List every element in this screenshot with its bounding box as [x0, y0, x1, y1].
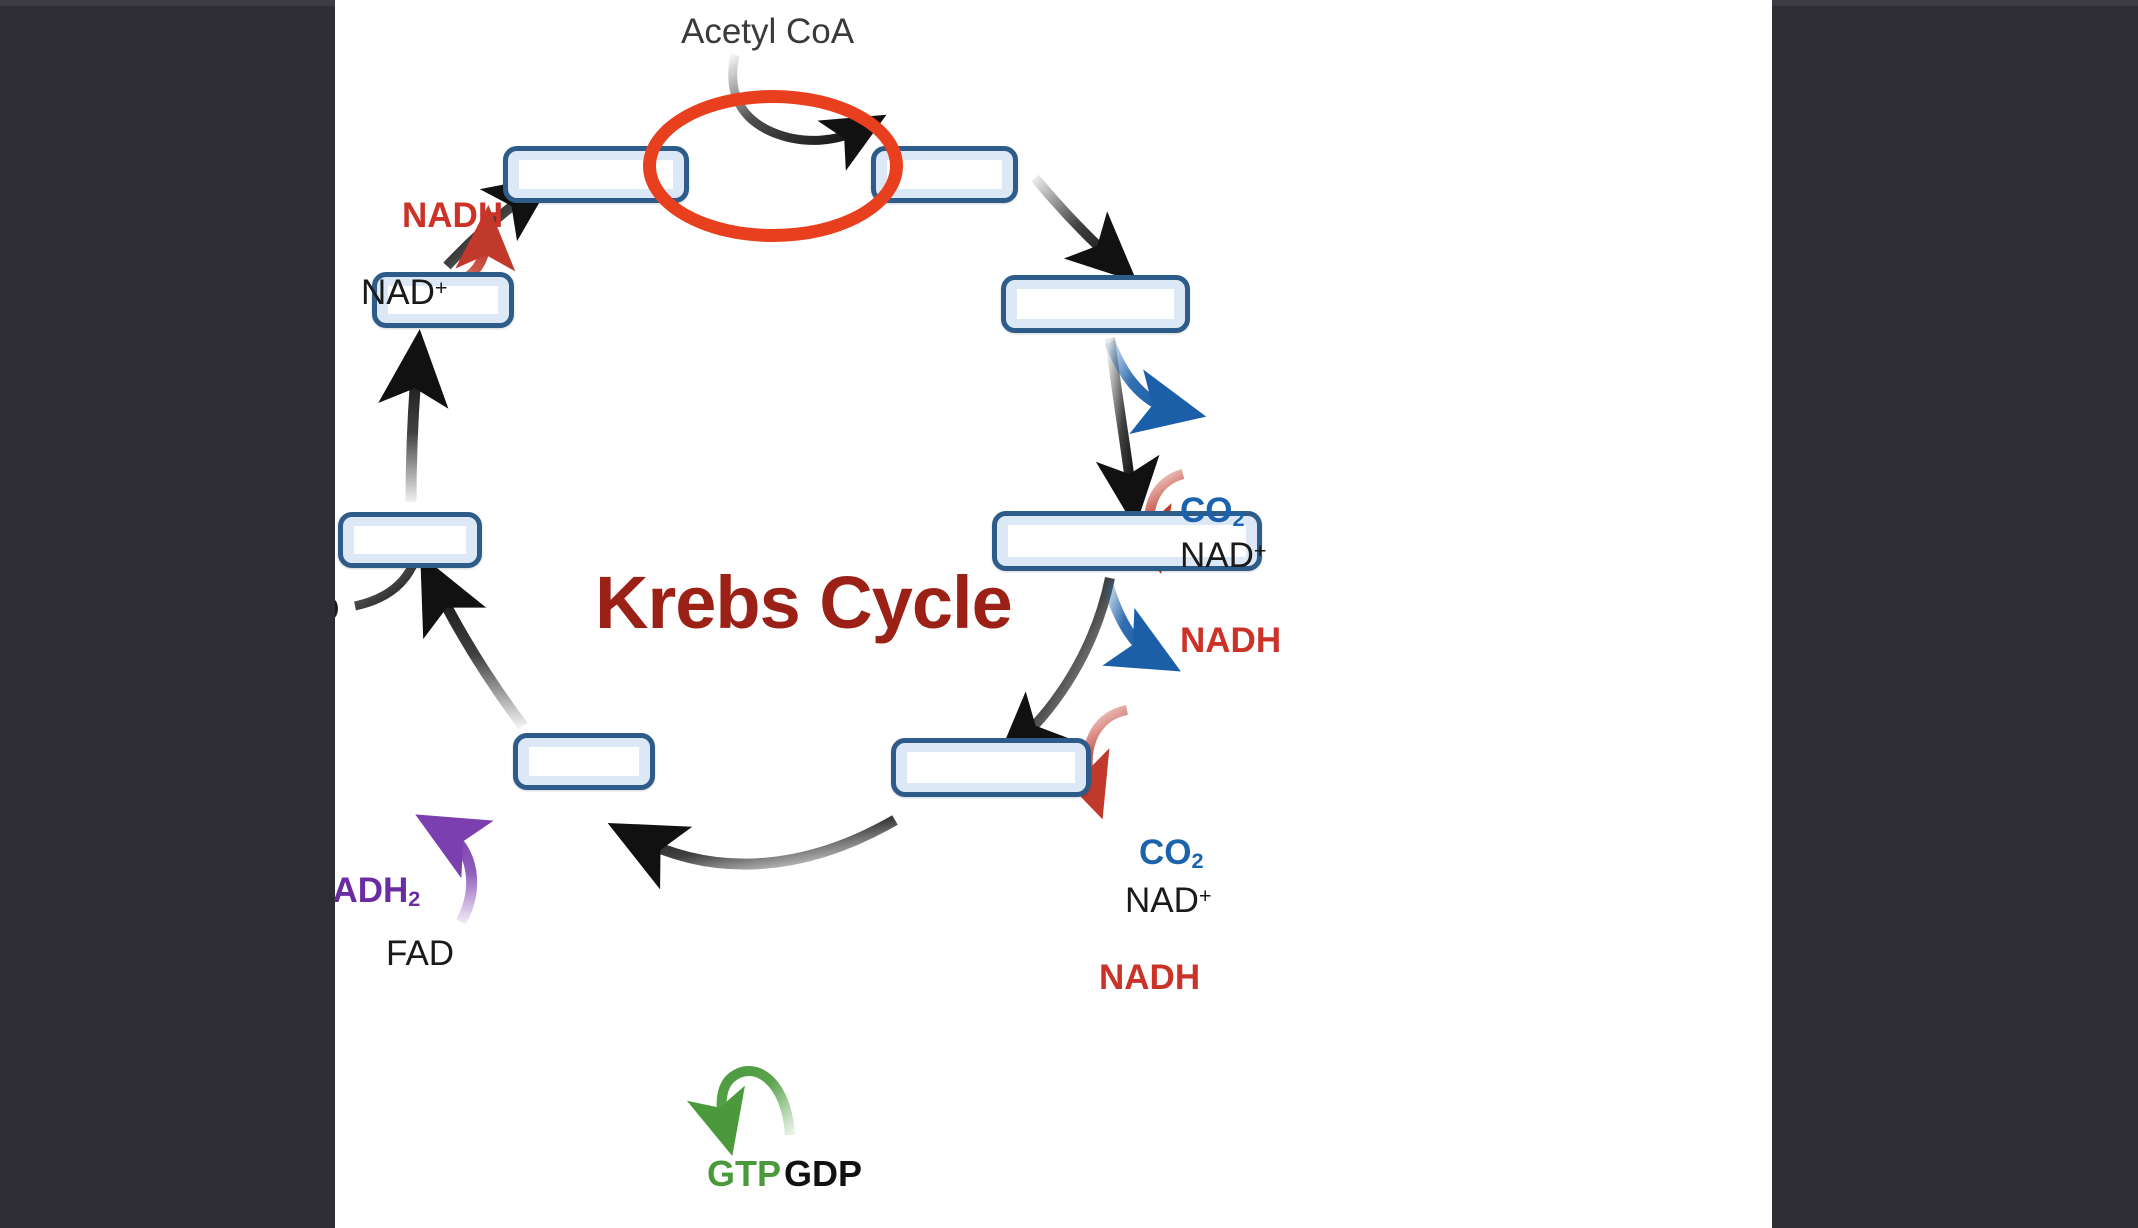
diagram-canvas: Acetyl CoA NADH NAD+ H2O FADH2 FAD GTP G…	[335, 0, 1772, 1228]
label-co2-upper: CO2	[1180, 493, 1245, 530]
label-nad-lower: NAD+	[1125, 883, 1212, 918]
arrow-fad-to-fadh2	[443, 830, 472, 922]
screenshot-root: Acetyl CoA NADH NAD+ H2O FADH2 FAD GTP G…	[0, 0, 2138, 1228]
arrow-acetyl-coa-in	[733, 55, 863, 140]
arrow-topright-to-rightupper	[1035, 178, 1115, 262]
slot-inner-field[interactable]	[519, 160, 673, 189]
slot-inner-field[interactable]	[887, 160, 1002, 189]
label-nadh-lower: NADH	[1099, 960, 1200, 995]
label-h2o: H2O	[335, 592, 340, 629]
arrow-rightmiddle-to-rightlower	[1018, 578, 1110, 742]
arrow-bottomcenter-to-leftlower	[435, 584, 523, 726]
slot-box-top-right[interactable]	[871, 146, 1018, 203]
label-acetyl-coa: Acetyl CoA	[681, 14, 854, 49]
label-gdp: GDP	[784, 1156, 862, 1192]
label-co2-lower: CO2	[1139, 835, 1204, 872]
label-gtp: GTP	[707, 1156, 781, 1192]
slot-box-bottom-center[interactable]	[513, 733, 655, 790]
label-nadh-upper: NADH	[1180, 623, 1281, 658]
arrow-leftlower-to-leftupper	[411, 362, 417, 502]
slot-inner-field[interactable]	[1017, 289, 1174, 319]
slot-inner-field[interactable]	[529, 747, 639, 776]
slot-box-left-lower[interactable]	[338, 512, 482, 568]
page-title: Krebs Cycle	[595, 560, 1012, 645]
slot-inner-field[interactable]	[354, 526, 466, 554]
slot-box-right-upper[interactable]	[1001, 275, 1190, 333]
arrow-nad-to-nadh-lower	[1088, 710, 1127, 792]
arrow-gdp-to-gtp	[722, 1071, 790, 1135]
slot-inner-field[interactable]	[907, 752, 1075, 783]
label-nad-upper: NAD+	[1180, 538, 1267, 573]
label-fadh2: FADH2	[335, 873, 420, 910]
arrow-rightlower-to-bottomcenter	[637, 820, 895, 864]
label-nad-top-left: NAD+	[361, 275, 448, 310]
slot-box-right-lower[interactable]	[891, 738, 1091, 797]
arrow-co2-lower	[1107, 582, 1153, 656]
slot-box-top-left[interactable]	[503, 146, 689, 203]
label-nadh-top-left: NADH	[402, 198, 503, 233]
label-fad: FAD	[386, 936, 454, 971]
